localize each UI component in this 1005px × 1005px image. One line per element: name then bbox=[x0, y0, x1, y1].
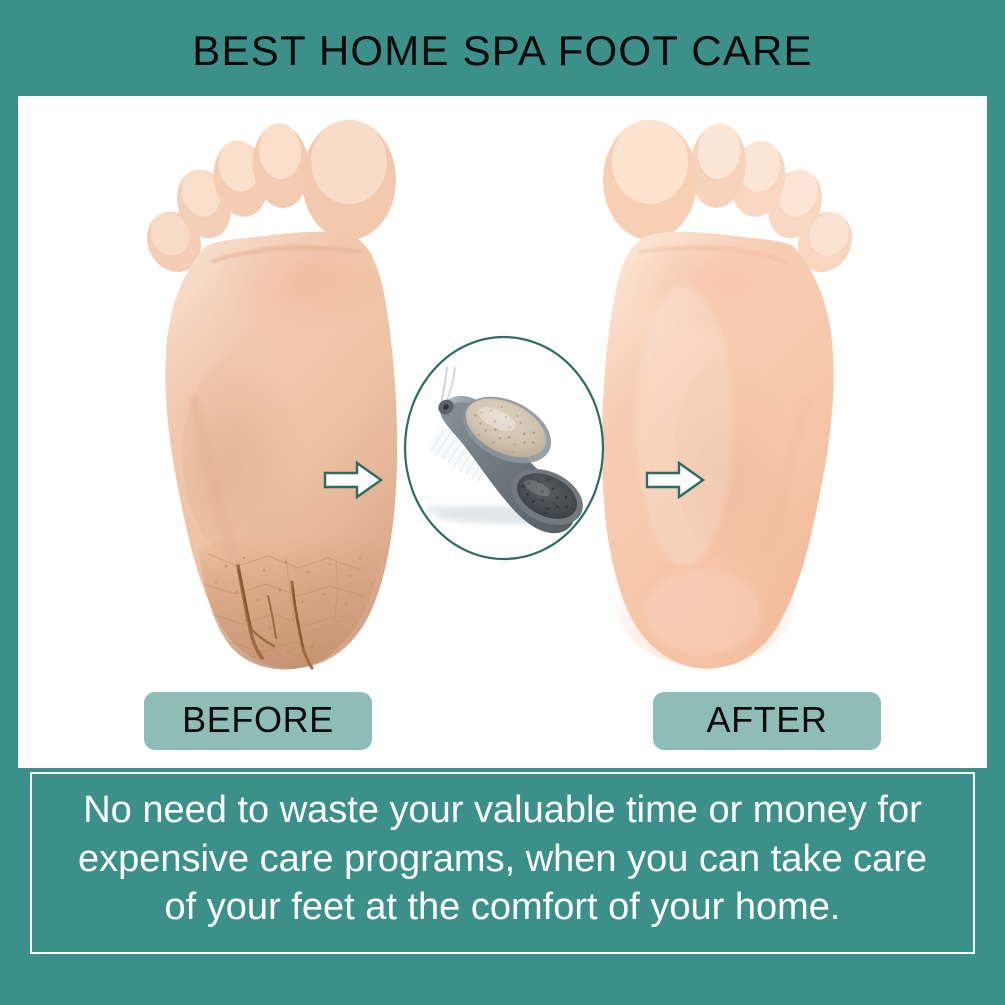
product-image bbox=[401, 333, 607, 563]
before-foot-image bbox=[146, 96, 436, 696]
after-badge: AFTER bbox=[653, 692, 881, 750]
message-panel: No need to waste your valuable time or m… bbox=[26, 768, 979, 958]
arrow-right-icon bbox=[644, 458, 706, 502]
message-inner-border: No need to waste your valuable time or m… bbox=[30, 772, 975, 954]
before-badge-label: BEFORE bbox=[182, 702, 334, 740]
message-line-1: No need to waste your valuable time or m… bbox=[83, 786, 922, 835]
poster-header: BEST HOME SPA FOOT CARE bbox=[0, 0, 1005, 96]
product-poster: BEST HOME SPA FOOT CARE bbox=[0, 0, 1005, 1005]
after-badge-label: AFTER bbox=[706, 702, 827, 740]
message-line-3: of your feet at the comfort of your home… bbox=[165, 883, 841, 932]
page-title: BEST HOME SPA FOOT CARE bbox=[192, 24, 812, 72]
comparison-panel: BEFORE AFTER bbox=[18, 96, 987, 768]
message-line-2: expensive care programs, when you can ta… bbox=[78, 835, 927, 884]
arrow-right-icon bbox=[322, 458, 384, 502]
before-badge: BEFORE bbox=[144, 692, 372, 750]
